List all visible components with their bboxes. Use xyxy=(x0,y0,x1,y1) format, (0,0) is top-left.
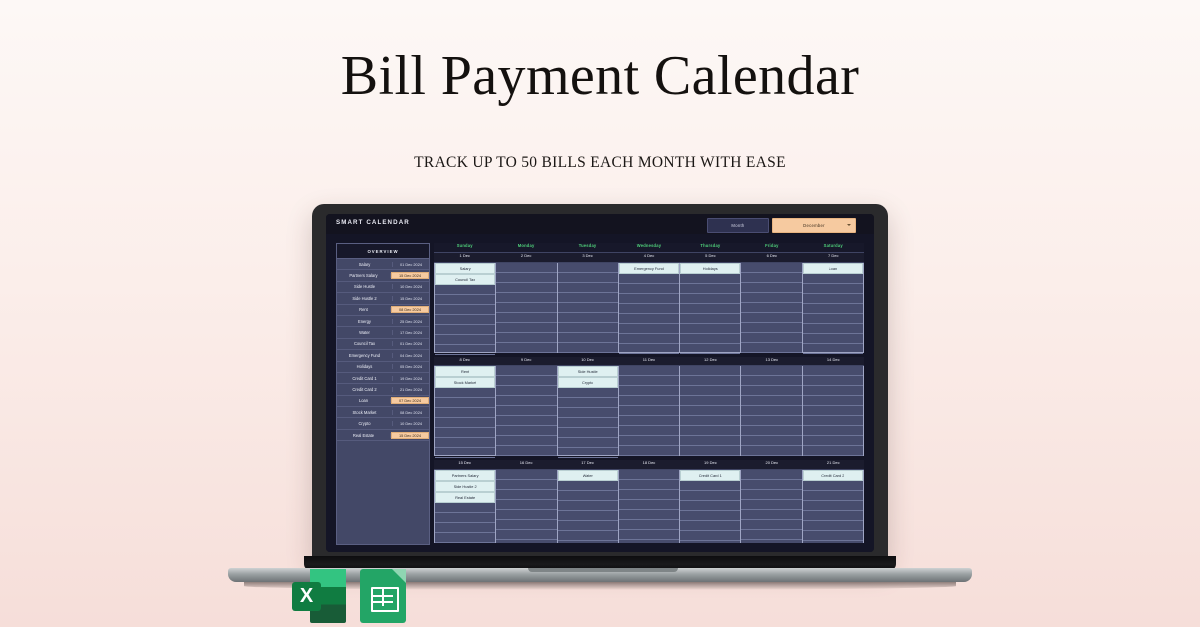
app-body: OVERVIEW Salary01 Dec 2024Partners Salar… xyxy=(326,234,874,552)
calendar-date-label: 13 Dec xyxy=(741,357,802,366)
calendar-empty-slot[interactable] xyxy=(496,293,556,303)
calendar-empty-slot[interactable] xyxy=(803,324,863,334)
calendar-date-label: 19 Dec xyxy=(680,460,741,469)
overview-row-name: Salary xyxy=(337,262,393,267)
calendar-empty-slot[interactable] xyxy=(803,426,863,436)
calendar-empty-slot[interactable] xyxy=(496,500,556,510)
overview-row[interactable]: Loan07 Dec 2024 xyxy=(337,396,429,407)
calendar-date-label: 5 Dec xyxy=(680,253,741,262)
calendar-bill-entry[interactable]: Partners Salary xyxy=(435,470,495,481)
overview-row-date: 10 Dec 2024 xyxy=(393,284,429,289)
calendar-day-cell[interactable] xyxy=(558,263,619,353)
calendar-empty-slot[interactable] xyxy=(558,293,618,303)
overview-row[interactable]: Rent08 Dec 2024 xyxy=(337,305,429,316)
calendar-empty-slot[interactable] xyxy=(680,294,740,304)
calendar-empty-slot[interactable] xyxy=(496,406,556,416)
calendar-date-label: 21 Dec xyxy=(803,460,864,469)
calendar-empty-slot[interactable] xyxy=(558,541,618,543)
calendar-empty-slot[interactable] xyxy=(496,313,556,323)
calendar-empty-slot[interactable] xyxy=(680,501,740,511)
calendar-empty-slot[interactable] xyxy=(558,398,618,408)
overview-row-date: 21 Dec 2024 xyxy=(393,387,429,392)
calendar-week: SundayMondayTuesdayWednesdayThursdayFrid… xyxy=(434,243,864,357)
laptop-mockup: SMART CALENDAR Month December OVERVIEW xyxy=(304,204,896,576)
overview-row[interactable]: Emergency Fund04 Dec 2024 xyxy=(337,350,429,361)
app-header: SMART CALENDAR Month December xyxy=(326,214,874,234)
calendar-bill-entry[interactable]: Council Tax xyxy=(435,274,495,285)
calendar-bill-label: Real Estate xyxy=(455,495,475,500)
calendar-day-header: Wednesday xyxy=(618,243,679,252)
calendar-empty-slot[interactable] xyxy=(803,334,863,344)
calendar-empty-slot[interactable] xyxy=(680,344,740,354)
calendar-day-cell[interactable] xyxy=(741,470,802,543)
overview-row-name: Council Tax xyxy=(337,341,393,346)
calendar-empty-slot[interactable] xyxy=(680,406,740,416)
excel-icon[interactable]: X xyxy=(292,569,346,623)
calendar-empty-slot[interactable] xyxy=(741,366,801,376)
calendar-empty-slot[interactable] xyxy=(435,513,495,523)
calendar-empty-slot[interactable] xyxy=(741,510,801,520)
calendar-empty-slot[interactable] xyxy=(435,418,495,428)
calendar-empty-slot[interactable] xyxy=(496,490,556,500)
overview-row[interactable]: Partners Salary15 Dec 2024 xyxy=(337,270,429,281)
calendar-empty-slot[interactable] xyxy=(741,500,801,510)
calendar-day-cell[interactable] xyxy=(741,263,802,353)
calendar-day-cell[interactable] xyxy=(619,470,680,543)
overview-row[interactable]: Side Hustle 215 Dec 2024 xyxy=(337,293,429,304)
calendar-empty-slot[interactable] xyxy=(803,284,863,294)
calendar-empty-slot[interactable] xyxy=(741,436,801,446)
calendar-bill-label: Rent xyxy=(461,369,469,374)
calendar-date-label: 10 Dec xyxy=(557,357,618,366)
calendar-date-label: 2 Dec xyxy=(495,253,556,262)
calendar-bill-label: Salary xyxy=(460,266,471,271)
calendar-empty-slot[interactable] xyxy=(619,274,679,284)
overview-row-name: Water xyxy=(337,330,393,335)
month-label-button[interactable]: Month xyxy=(707,218,769,233)
overview-header-label: OVERVIEW xyxy=(367,249,398,254)
calendar-empty-slot[interactable] xyxy=(803,416,863,426)
calendar-empty-slot[interactable] xyxy=(680,366,740,376)
calendar-empty-slot[interactable] xyxy=(619,386,679,396)
calendar-day-header: Thursday xyxy=(680,243,741,252)
calendar-empty-slot[interactable] xyxy=(803,386,863,396)
calendar-empty-slot[interactable] xyxy=(435,315,495,325)
file-format-icons: X xyxy=(292,565,452,627)
calendar-empty-slot[interactable] xyxy=(680,324,740,334)
calendar-date-label: 1 Dec xyxy=(434,253,495,262)
month-select-dropdown[interactable]: December xyxy=(772,218,856,233)
calendar-empty-slot[interactable] xyxy=(496,480,556,490)
calendar-empty-slot[interactable] xyxy=(803,314,863,324)
calendar-bill-entry[interactable]: Credit Card 2 xyxy=(803,470,863,481)
overview-row-name: Rent xyxy=(337,307,391,312)
hero-section: Bill Payment Calendar TRACK UP TO 50 BIL… xyxy=(0,0,1200,172)
calendar-empty-slot[interactable] xyxy=(496,343,556,353)
calendar-day-cell[interactable] xyxy=(803,366,864,456)
calendar-empty-slot[interactable] xyxy=(496,376,556,386)
overview-row[interactable]: Real Estate15 Dec 2024 xyxy=(337,430,429,441)
calendar-empty-slot[interactable] xyxy=(680,481,740,491)
calendar-empty-slot[interactable] xyxy=(558,448,618,458)
calendar-empty-slot[interactable] xyxy=(741,273,801,283)
calendar-bill-entry[interactable]: Side Hustle xyxy=(558,366,618,377)
overview-sidebar: OVERVIEW Salary01 Dec 2024Partners Salar… xyxy=(336,243,430,545)
calendar-empty-slot[interactable] xyxy=(496,396,556,406)
calendar-empty-slot[interactable] xyxy=(619,530,679,540)
calendar-empty-slot[interactable] xyxy=(435,438,495,448)
calendar-empty-slot[interactable] xyxy=(435,448,495,458)
calendar-day-cell[interactable] xyxy=(741,366,802,456)
calendar-empty-slot[interactable] xyxy=(803,274,863,284)
calendar-date-label: 11 Dec xyxy=(618,357,679,366)
calendar-empty-slot[interactable] xyxy=(741,303,801,313)
calendar-empty-slot[interactable] xyxy=(558,501,618,511)
google-sheets-icon[interactable] xyxy=(360,569,406,623)
calendar-empty-slot[interactable] xyxy=(680,304,740,314)
calendar-empty-slot[interactable] xyxy=(619,480,679,490)
calendar-day-header: Friday xyxy=(741,243,802,252)
calendar-day-header: Monday xyxy=(495,243,556,252)
calendar-empty-slot[interactable] xyxy=(741,263,801,273)
calendar-empty-slot[interactable] xyxy=(680,541,740,543)
calendar-cell-row: SalaryCouncil TaxEmergency FundHolidaysL… xyxy=(434,263,864,353)
calendar-empty-slot[interactable] xyxy=(435,345,495,355)
calendar-empty-slot[interactable] xyxy=(741,530,801,540)
calendar-empty-slot[interactable] xyxy=(619,470,679,480)
calendar-empty-slot[interactable] xyxy=(619,344,679,354)
calendar-day-cell[interactable]: Credit Card 2 xyxy=(803,470,864,543)
overview-row-list: Salary01 Dec 2024Partners Salary15 Dec 2… xyxy=(337,259,429,441)
overview-row[interactable]: Side Hustle10 Dec 2024 xyxy=(337,282,429,293)
calendar-bill-entry[interactable]: Rent xyxy=(435,366,495,377)
calendar-bill-entry[interactable]: Side Hustle 2 xyxy=(435,481,495,492)
calendar-empty-slot[interactable] xyxy=(680,446,740,456)
overview-row-name: Side Hustle xyxy=(337,284,393,289)
overview-row-name: Energy xyxy=(337,319,393,324)
calendar-empty-slot[interactable] xyxy=(619,376,679,386)
calendar-bill-entry[interactable]: Credit Card 1 xyxy=(680,470,740,481)
calendar-empty-slot[interactable] xyxy=(558,428,618,438)
calendar-empty-slot[interactable] xyxy=(619,426,679,436)
calendar-empty-slot[interactable] xyxy=(803,436,863,446)
overview-row[interactable]: Energy25 Dec 2024 xyxy=(337,316,429,327)
calendar-empty-slot[interactable] xyxy=(741,386,801,396)
calendar-empty-slot[interactable] xyxy=(619,304,679,314)
calendar-date-label: 20 Dec xyxy=(741,460,802,469)
calendar-day-cell[interactable]: RentStock Market xyxy=(434,366,496,456)
calendar-empty-slot[interactable] xyxy=(680,386,740,396)
calendar-empty-slot[interactable] xyxy=(435,398,495,408)
calendar-empty-slot[interactable] xyxy=(558,438,618,448)
calendar-empty-slot[interactable] xyxy=(619,510,679,520)
calendar-empty-slot[interactable] xyxy=(435,503,495,513)
calendar-empty-slot[interactable] xyxy=(680,511,740,521)
calendar-empty-slot[interactable] xyxy=(803,541,863,543)
overview-row[interactable]: Salary01 Dec 2024 xyxy=(337,259,429,270)
calendar-date-label: 12 Dec xyxy=(680,357,741,366)
calendar-empty-slot[interactable] xyxy=(619,334,679,344)
calendar-bill-entry[interactable]: Emergency Fund xyxy=(619,263,679,274)
calendar-empty-slot[interactable] xyxy=(741,283,801,293)
calendar-empty-slot[interactable] xyxy=(741,333,801,343)
overview-row[interactable]: Water17 Dec 2024 xyxy=(337,327,429,338)
overview-row-date: 15 Dec 2024 xyxy=(391,272,429,279)
calendar-empty-slot[interactable] xyxy=(803,344,863,354)
calendar-empty-slot[interactable] xyxy=(803,531,863,541)
calendar-bill-label: Council Tax xyxy=(455,277,475,282)
overview-row-date: 19 Dec 2024 xyxy=(393,376,429,381)
calendar-bill-entry[interactable]: Crypto xyxy=(558,377,618,388)
calendar-empty-slot[interactable] xyxy=(741,376,801,386)
calendar-bill-entry[interactable]: Stock Market xyxy=(435,377,495,388)
calendar-empty-slot[interactable] xyxy=(803,396,863,406)
calendar-empty-slot[interactable] xyxy=(496,333,556,343)
calendar-date-row: 8 Dec9 Dec10 Dec11 Dec12 Dec13 Dec14 Dec xyxy=(434,357,864,367)
calendar-empty-slot[interactable] xyxy=(741,323,801,333)
calendar-day-cell[interactable] xyxy=(496,470,557,543)
calendar-empty-slot[interactable] xyxy=(558,408,618,418)
calendar-empty-slot[interactable] xyxy=(680,396,740,406)
calendar-empty-slot[interactable] xyxy=(435,305,495,315)
overview-row-date: 25 Dec 2024 xyxy=(393,319,429,324)
laptop-lid: SMART CALENDAR Month December OVERVIEW xyxy=(312,204,888,562)
calendar-empty-slot[interactable] xyxy=(803,521,863,531)
calendar-day-header: Tuesday xyxy=(557,243,618,252)
calendar-grid: SundayMondayTuesdayWednesdayThursdayFrid… xyxy=(434,243,864,543)
calendar-empty-slot[interactable] xyxy=(803,511,863,521)
calendar-week: 8 Dec9 Dec10 Dec11 Dec12 Dec13 Dec14 Dec… xyxy=(434,357,864,461)
calendar-date-label: 17 Dec xyxy=(557,460,618,469)
calendar-day-cell[interactable]: Water xyxy=(558,470,619,543)
calendar-empty-slot[interactable] xyxy=(741,293,801,303)
overview-row-name: Credit Card 2 xyxy=(337,387,393,392)
calendar-empty-slot[interactable] xyxy=(496,436,556,446)
calendar-day-cell[interactable] xyxy=(496,263,557,353)
calendar-empty-slot[interactable] xyxy=(803,376,863,386)
calendar-empty-slot[interactable] xyxy=(558,313,618,323)
calendar-empty-slot[interactable] xyxy=(741,313,801,323)
calendar-empty-slot[interactable] xyxy=(435,285,495,295)
overview-row[interactable]: Credit Card 221 Dec 2024 xyxy=(337,384,429,395)
overview-row-date: 08 Dec 2024 xyxy=(393,410,429,415)
calendar-day-cell[interactable]: Holidays xyxy=(680,263,741,353)
overview-row-name: Crypto xyxy=(337,421,393,426)
overview-row[interactable]: Council Tax01 Dec 2024 xyxy=(337,339,429,350)
overview-row[interactable]: Stock Market08 Dec 2024 xyxy=(337,407,429,418)
page-title: Bill Payment Calendar xyxy=(0,44,1200,108)
calendar-empty-slot[interactable] xyxy=(741,446,801,456)
calendar-empty-slot[interactable] xyxy=(619,520,679,530)
overview-header: OVERVIEW xyxy=(337,244,429,259)
calendar-empty-slot[interactable] xyxy=(619,446,679,456)
calendar-date-label: 3 Dec xyxy=(557,253,618,262)
google-sheets-icon-doc xyxy=(360,569,406,623)
calendar-empty-slot[interactable] xyxy=(619,294,679,304)
calendar-empty-slot[interactable] xyxy=(496,273,556,283)
calendar-empty-slot[interactable] xyxy=(558,333,618,343)
calendar-date-label: 9 Dec xyxy=(495,357,556,366)
calendar-empty-slot[interactable] xyxy=(680,491,740,501)
calendar-empty-slot[interactable] xyxy=(558,521,618,531)
calendar-empty-slot[interactable] xyxy=(619,284,679,294)
calendar-empty-slot[interactable] xyxy=(496,283,556,293)
calendar-empty-slot[interactable] xyxy=(803,501,863,511)
calendar-empty-slot[interactable] xyxy=(803,366,863,376)
calendar-empty-slot[interactable] xyxy=(741,343,801,353)
calendar-empty-slot[interactable] xyxy=(803,446,863,456)
calendar-empty-slot[interactable] xyxy=(558,323,618,333)
calendar-bill-label: Holidays xyxy=(703,266,718,271)
calendar-empty-slot[interactable] xyxy=(496,416,556,426)
calendar-bill-label: Crypto xyxy=(582,380,593,385)
calendar-empty-slot[interactable] xyxy=(619,406,679,416)
calendar-empty-slot[interactable] xyxy=(558,263,618,273)
calendar-date-label: 8 Dec xyxy=(434,357,495,366)
calendar-empty-slot[interactable] xyxy=(496,386,556,396)
calendar-empty-slot[interactable] xyxy=(803,294,863,304)
calendar-empty-slot[interactable] xyxy=(741,490,801,500)
calendar-empty-slot[interactable] xyxy=(680,284,740,294)
calendar-empty-slot[interactable] xyxy=(803,406,863,416)
overview-row-name: Side Hustle 2 xyxy=(337,296,393,301)
calendar-bill-label: Side Hustle xyxy=(578,369,598,374)
calendar-bill-entry[interactable]: Water xyxy=(558,470,618,481)
overview-row[interactable]: Crypto10 Dec 2024 xyxy=(337,418,429,429)
overview-row-name: Emergency Fund xyxy=(337,353,393,358)
calendar-bill-label: Emergency Fund xyxy=(634,266,664,271)
calendar-empty-slot[interactable] xyxy=(803,481,863,491)
calendar-empty-slot[interactable] xyxy=(496,426,556,436)
calendar-empty-slot[interactable] xyxy=(496,303,556,313)
calendar-empty-slot[interactable] xyxy=(680,416,740,426)
calendar-empty-slot[interactable] xyxy=(680,531,740,541)
calendar-empty-slot[interactable] xyxy=(680,426,740,436)
laptop-screen: SMART CALENDAR Month December OVERVIEW xyxy=(326,214,874,552)
calendar-empty-slot[interactable] xyxy=(496,366,556,376)
calendar-empty-slot[interactable] xyxy=(435,533,495,543)
calendar-empty-slot[interactable] xyxy=(741,396,801,406)
calendar-bill-entry[interactable]: Real Estate xyxy=(435,492,495,503)
calendar-empty-slot[interactable] xyxy=(619,540,679,543)
calendar-empty-slot[interactable] xyxy=(619,500,679,510)
calendar-bill-entry[interactable]: Salary xyxy=(435,263,495,274)
overview-row-date: 10 Dec 2024 xyxy=(393,421,429,426)
overview-row-date: 15 Dec 2024 xyxy=(391,432,429,439)
calendar-empty-slot[interactable] xyxy=(741,540,801,543)
calendar-empty-slot[interactable] xyxy=(619,324,679,334)
calendar-empty-slot[interactable] xyxy=(435,428,495,438)
calendar-empty-slot[interactable] xyxy=(619,314,679,324)
calendar-empty-slot[interactable] xyxy=(680,334,740,344)
calendar-day-cell[interactable]: Credit Card 1 xyxy=(680,470,741,543)
calendar-empty-slot[interactable] xyxy=(496,540,556,543)
calendar-empty-slot[interactable] xyxy=(558,303,618,313)
calendar-date-label: 14 Dec xyxy=(803,357,864,366)
calendar-day-cell[interactable]: Emergency Fund xyxy=(619,263,680,353)
calendar-empty-slot[interactable] xyxy=(803,304,863,314)
calendar-empty-slot[interactable] xyxy=(680,274,740,284)
calendar-empty-slot[interactable] xyxy=(496,530,556,540)
calendar-day-cell[interactable] xyxy=(619,366,680,456)
calendar-empty-slot[interactable] xyxy=(496,263,556,273)
calendar-empty-slot[interactable] xyxy=(741,426,801,436)
calendar-empty-slot[interactable] xyxy=(619,366,679,376)
calendar-empty-slot[interactable] xyxy=(435,523,495,533)
calendar-date-label: 18 Dec xyxy=(618,460,679,469)
calendar-day-cell[interactable]: SalaryCouncil Tax xyxy=(434,263,496,353)
calendar-day-cell[interactable]: Partners SalarySide Hustle 2Real Estate xyxy=(434,470,496,543)
calendar-bill-entry[interactable]: Holidays xyxy=(680,263,740,274)
overview-row-date: 08 Dec 2024 xyxy=(391,306,429,313)
calendar-day-cell[interactable]: Loan xyxy=(803,263,864,353)
calendar-bill-label: Side Hustle 2 xyxy=(454,484,477,489)
calendar-empty-slot[interactable] xyxy=(619,436,679,446)
calendar-empty-slot[interactable] xyxy=(558,491,618,501)
calendar-empty-slot[interactable] xyxy=(435,325,495,335)
overview-row-name: Real Estate xyxy=(337,433,391,438)
calendar-empty-slot[interactable] xyxy=(619,416,679,426)
calendar-day-cell[interactable]: Side HustleCrypto xyxy=(558,366,619,456)
calendar-empty-slot[interactable] xyxy=(435,388,495,398)
calendar-day-cell[interactable] xyxy=(680,366,741,456)
overview-row[interactable]: Holidays05 Dec 2024 xyxy=(337,362,429,373)
calendar-empty-slot[interactable] xyxy=(680,376,740,386)
calendar-empty-slot[interactable] xyxy=(435,335,495,345)
calendar-empty-slot[interactable] xyxy=(435,408,495,418)
calendar-empty-slot[interactable] xyxy=(496,510,556,520)
calendar-empty-slot[interactable] xyxy=(680,521,740,531)
calendar-empty-slot[interactable] xyxy=(558,273,618,283)
calendar-empty-slot[interactable] xyxy=(558,511,618,521)
calendar-empty-slot[interactable] xyxy=(619,396,679,406)
calendar-empty-slot[interactable] xyxy=(680,436,740,446)
calendar-date-row: 15 Dec16 Dec17 Dec18 Dec19 Dec20 Dec21 D… xyxy=(434,460,864,470)
calendar-empty-slot[interactable] xyxy=(558,343,618,353)
calendar-bill-entry[interactable]: Loan xyxy=(803,263,863,274)
calendar-empty-slot[interactable] xyxy=(558,418,618,428)
calendar-empty-slot[interactable] xyxy=(496,446,556,456)
overview-row-date: 15 Dec 2024 xyxy=(393,296,429,301)
excel-icon-badge: X xyxy=(292,582,321,611)
calendar-empty-slot[interactable] xyxy=(619,490,679,500)
calendar-empty-slot[interactable] xyxy=(496,520,556,530)
calendar-empty-slot[interactable] xyxy=(741,470,801,480)
overview-row-name: Stock Market xyxy=(337,410,393,415)
month-label-text: Month xyxy=(731,223,744,228)
calendar-empty-slot[interactable] xyxy=(741,480,801,490)
calendar-empty-slot[interactable] xyxy=(496,470,556,480)
calendar-empty-slot[interactable] xyxy=(680,314,740,324)
calendar-date-label: 16 Dec xyxy=(495,460,556,469)
overview-row-name: Partners Salary xyxy=(337,273,391,278)
calendar-empty-slot[interactable] xyxy=(496,323,556,333)
calendar-empty-slot[interactable] xyxy=(558,531,618,541)
calendar-empty-slot[interactable] xyxy=(741,520,801,530)
calendar-empty-slot[interactable] xyxy=(741,406,801,416)
overview-row-date: 04 Dec 2024 xyxy=(393,353,429,358)
calendar-empty-slot[interactable] xyxy=(558,481,618,491)
calendar-weeks: SundayMondayTuesdayWednesdayThursdayFrid… xyxy=(434,243,864,543)
calendar-empty-slot[interactable] xyxy=(558,283,618,293)
calendar-empty-slot[interactable] xyxy=(435,295,495,305)
overview-row-name: Loan xyxy=(337,398,391,403)
overview-row[interactable]: Credit Card 119 Dec 2024 xyxy=(337,373,429,384)
calendar-empty-slot[interactable] xyxy=(558,388,618,398)
calendar-empty-slot[interactable] xyxy=(741,416,801,426)
calendar-empty-slot[interactable] xyxy=(803,491,863,501)
calendar-day-cell[interactable] xyxy=(496,366,557,456)
